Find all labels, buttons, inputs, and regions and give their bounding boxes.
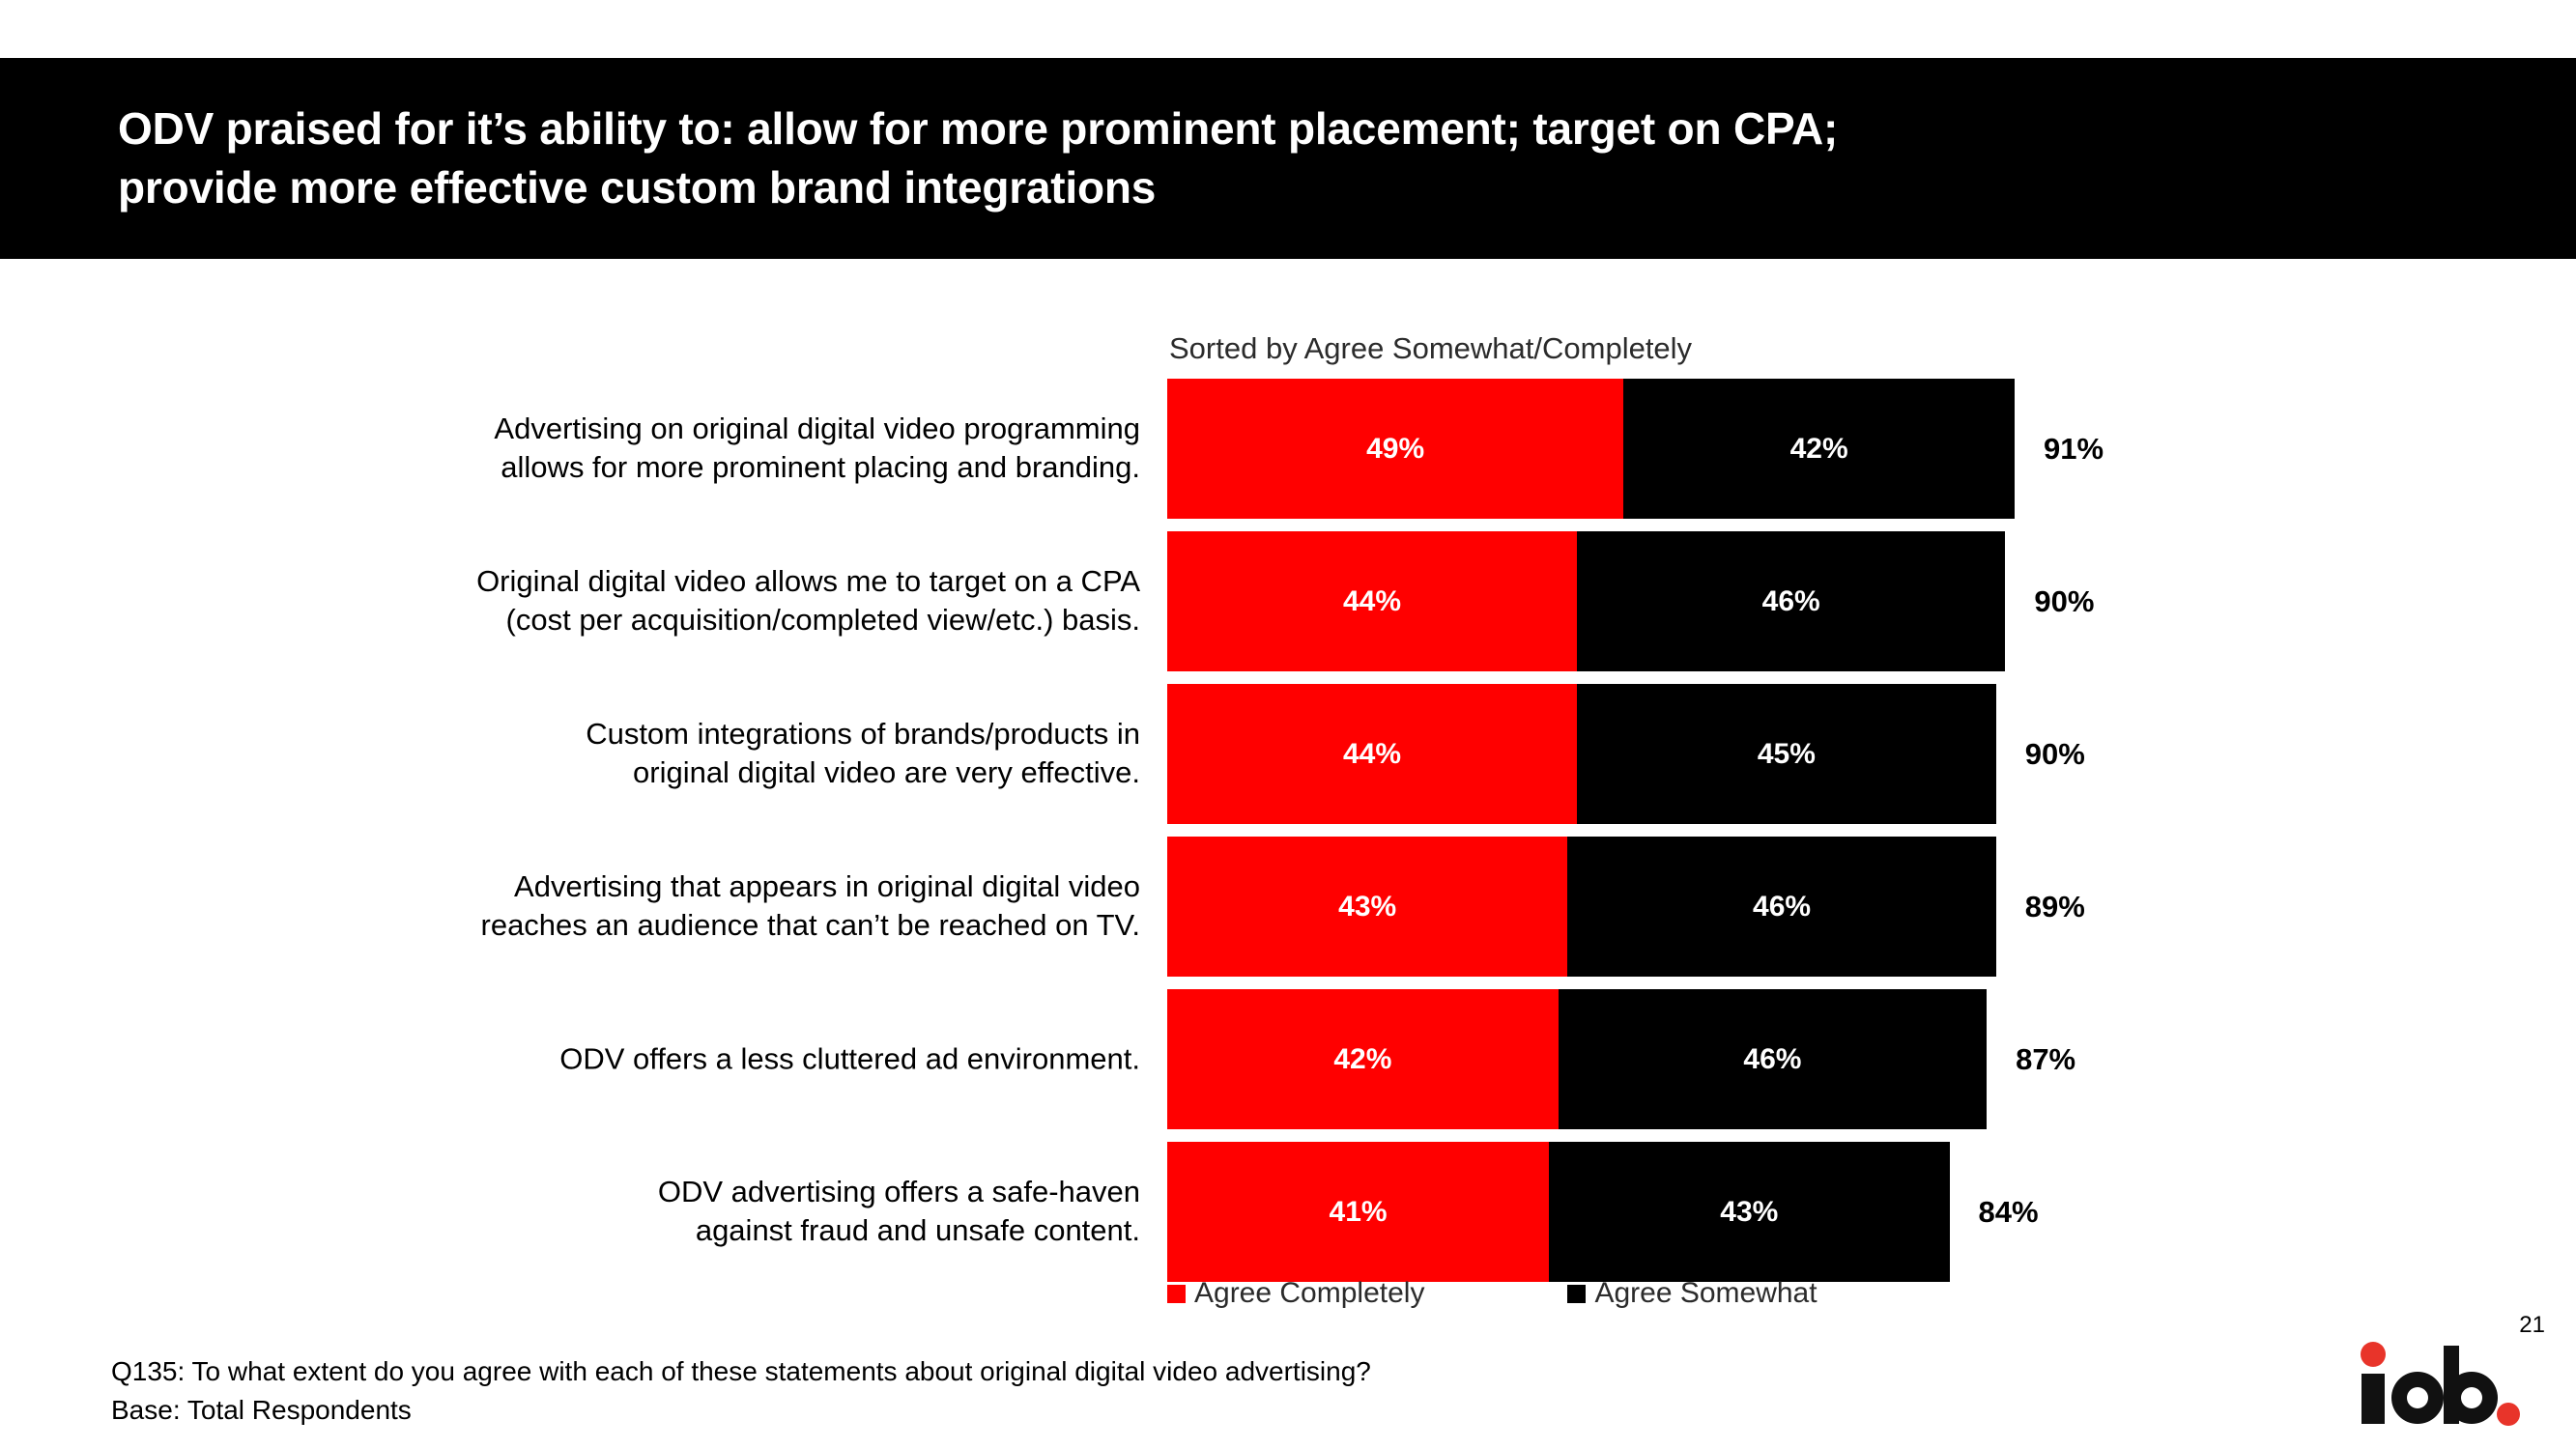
bar-segment-agree-completely: 42% (1167, 989, 1559, 1129)
chart-row-label: ODV advertising offers a safe-haven agai… (319, 1173, 1140, 1252)
chart-row: ODV advertising offers a safe-haven agai… (0, 1142, 2576, 1282)
logo-letter-b (2444, 1346, 2498, 1424)
chart-row: Original digital video allows me to targ… (0, 531, 2576, 671)
chart-row-label: Original digital video allows me to targ… (319, 562, 1140, 641)
chart-row-label: Custom integrations of brands/products i… (319, 715, 1140, 794)
red-square-icon (1167, 1285, 1186, 1303)
bar-segment-agree-somewhat: 42% (1623, 379, 2015, 519)
bar-total-label: 90% (2025, 737, 2085, 772)
source-footnote: Q135: To what extent do you agree with e… (111, 1352, 1371, 1430)
bar-segment-agree-completely: 41% (1167, 1142, 1549, 1282)
chart-row: Advertising that appears in original dig… (0, 837, 2576, 977)
legend-label: Agree Completely (1194, 1277, 1424, 1310)
logo-letter-i (2361, 1374, 2385, 1424)
chart-row-label: Advertising that appears in original dig… (319, 867, 1140, 947)
iab-logo (2348, 1341, 2522, 1433)
page-number: 21 (2519, 1312, 2545, 1339)
legend-item[interactable]: Agree Somewhat (1567, 1277, 1817, 1310)
logo-period-dot (2497, 1403, 2520, 1426)
chart-bar: 44%45% (1167, 684, 1996, 824)
chart-bar: 42%46% (1167, 989, 1987, 1129)
legend-item[interactable]: Agree Completely (1167, 1277, 1424, 1310)
chart-row: Custom integrations of brands/products i… (0, 684, 2576, 824)
stacked-bar-chart: Sorted by Agree Somewhat/Completely Adve… (0, 259, 2576, 1273)
bar-segment-agree-completely: 44% (1167, 684, 1577, 824)
bar-segment-agree-somewhat: 43% (1549, 1142, 1949, 1282)
chart-bar: 49%42% (1167, 379, 2015, 519)
bar-segment-agree-somewhat: 46% (1567, 837, 1995, 977)
black-square-icon (1567, 1285, 1586, 1303)
chart-row-label: ODV offers a less cluttered ad environme… (319, 1039, 1140, 1079)
iab-logo-icon (2348, 1341, 2522, 1433)
bar-total-label: 91% (2044, 432, 2104, 467)
bar-segment-agree-completely: 43% (1167, 837, 1567, 977)
chart-bar: 41%43% (1167, 1142, 1950, 1282)
bar-segment-agree-completely: 44% (1167, 531, 1577, 671)
bar-total-label: 84% (1979, 1195, 2039, 1230)
logo-top-dot (2361, 1342, 2386, 1367)
chart-bar: 44%46% (1167, 531, 2005, 671)
chart-legend: Agree CompletelyAgree Somewhat (1167, 1277, 1818, 1310)
bar-total-label: 87% (2016, 1042, 2075, 1077)
chart-rows: Advertising on original digital video pr… (0, 379, 2576, 1294)
bar-segment-agree-somewhat: 46% (1577, 531, 2005, 671)
chart-row-label: Advertising on original digital video pr… (319, 410, 1140, 489)
chart-row: ODV offers a less cluttered ad environme… (0, 989, 2576, 1129)
page-title: ODV praised for it’s ability to: allow f… (0, 99, 1954, 217)
bar-total-label: 90% (2034, 584, 2094, 619)
chart-subtitle: Sorted by Agree Somewhat/Completely (1169, 331, 1692, 366)
bar-segment-agree-completely: 49% (1167, 379, 1623, 519)
bar-segment-agree-somewhat: 46% (1559, 989, 1987, 1129)
bar-total-label: 89% (2025, 890, 2085, 924)
slide-title-band: ODV praised for it’s ability to: allow f… (0, 58, 2576, 259)
chart-row: Advertising on original digital video pr… (0, 379, 2576, 519)
logo-letter-a (2391, 1372, 2444, 1424)
bar-segment-agree-somewhat: 45% (1577, 684, 1996, 824)
chart-bar: 43%46% (1167, 837, 1996, 977)
legend-label: Agree Somewhat (1594, 1277, 1817, 1310)
